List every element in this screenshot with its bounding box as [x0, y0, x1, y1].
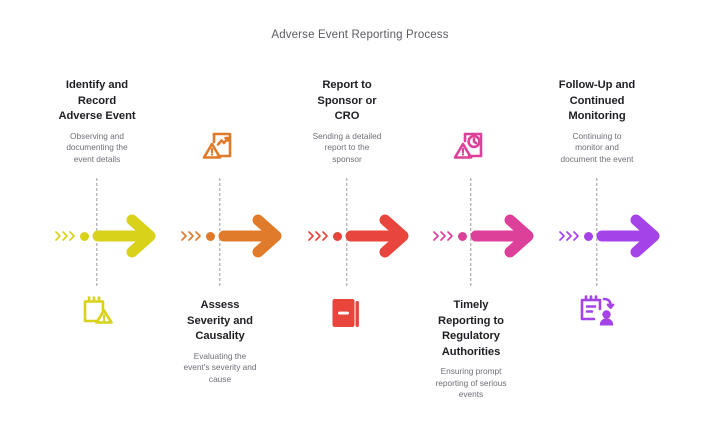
milestone-dot — [584, 232, 593, 241]
note-warning-icon — [79, 292, 115, 328]
step-title: Follow-Up and Continued Monitoring — [522, 78, 672, 125]
step-icon-wrapper — [522, 292, 672, 328]
infographic-canvas: Adverse Event Reporting Process Identify… — [0, 0, 720, 437]
step-text-block: Follow-Up and Continued Monitoring Conti… — [522, 78, 672, 165]
process-arrow — [470, 212, 536, 260]
arrow-group-3 — [307, 212, 411, 260]
milestone-dot — [333, 232, 342, 241]
process-arrow-row — [0, 212, 720, 260]
process-arrow — [596, 212, 662, 260]
chevrons-icon — [432, 229, 456, 243]
report-book-icon — [330, 296, 364, 330]
chevrons-icon — [54, 229, 78, 243]
process-arrow — [92, 212, 158, 260]
document-clock-warning-icon — [453, 128, 489, 164]
arrow-group-2 — [180, 212, 284, 260]
clipboard-person-icon — [578, 292, 616, 328]
step-subtitle: Continuing to monitor and document the e… — [522, 131, 672, 166]
chevrons-icon — [180, 229, 204, 243]
arrow-group-1 — [54, 212, 158, 260]
document-chart-warning-icon — [202, 128, 238, 164]
chevrons-icon — [558, 229, 582, 243]
arrow-group-5 — [558, 212, 662, 260]
arrow-group-4 — [432, 212, 536, 260]
milestone-dot — [206, 232, 215, 241]
chevrons-icon — [307, 229, 331, 243]
process-arrow — [345, 212, 411, 260]
process-arrow — [218, 212, 284, 260]
milestone-dot — [80, 232, 89, 241]
milestone-dot — [458, 232, 467, 241]
